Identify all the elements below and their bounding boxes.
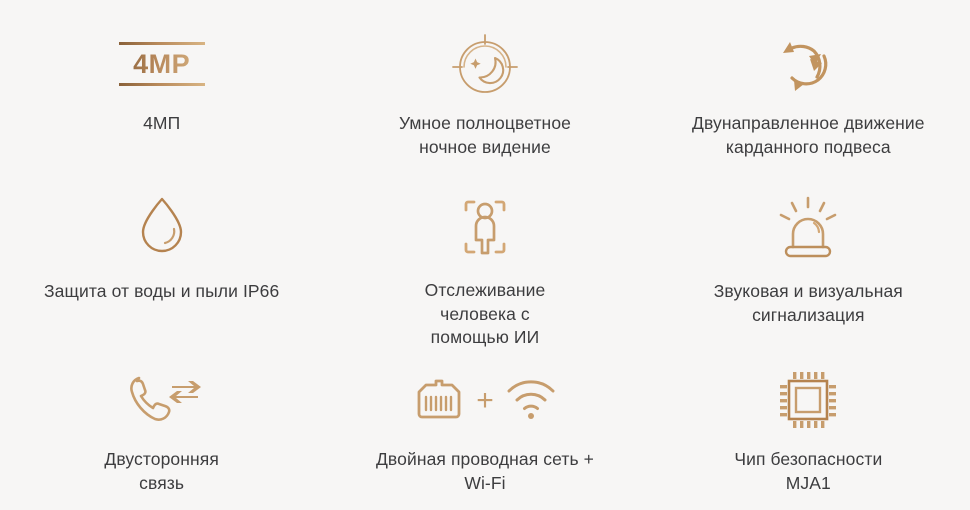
feature-label-ip66: Защита от воды и пыли IP66 [44, 280, 279, 304]
feature-label-security-chip: Чип безопасности MJA1 [734, 448, 882, 495]
water-droplet-icon [130, 186, 194, 270]
feature-label-network: Двойная проводная сеть + Wi-Fi [376, 448, 594, 495]
feature-label-night-vision: Умное полноцветное ночное видение [399, 112, 571, 159]
feature-cell-gimbal: Двунаправленное движение карданного подв… [647, 0, 970, 170]
microchip-icon [774, 362, 842, 438]
4mp-badge-icon: 4MP [119, 26, 205, 102]
feature-label-ai-tracking: Отслеживание человека с помощью ИИ [425, 279, 546, 350]
phone-handset-exchange-icon [119, 362, 205, 438]
badge-rule-bottom [119, 83, 205, 86]
plus-icon: + [476, 386, 494, 416]
feature-label-gimbal: Двунаправленное движение карданного подв… [692, 112, 925, 159]
feature-label-two-way-audio: Двусторонняя связь [104, 448, 219, 495]
feature-cell-alarm: Звуковая и визуальная сигнализация [647, 170, 970, 350]
feature-cell-ai-tracking: Отслеживание человека с помощью ИИ [323, 170, 646, 350]
feature-cell-ip66: Защита от воды и пыли IP66 [0, 170, 323, 350]
moon-star-lens-icon [446, 26, 524, 102]
feature-cell-security-chip: Чип безопасности MJA1 [647, 350, 970, 510]
feature-cell-resolution: 4MP 4МП [0, 0, 323, 170]
feature-cell-network: + Двойная проводная сеть + Wi-Fi [323, 350, 646, 510]
person-focus-frame-icon [449, 186, 521, 269]
feature-label-alarm: Звуковая и визуальная сигнализация [714, 280, 903, 327]
wifi-signal-icon [503, 372, 559, 429]
feature-cell-two-way-audio: Двусторонняя связь [0, 350, 323, 510]
feature-grid: 4MP 4МП Умное полноцветное ночное видени… [0, 0, 970, 510]
network-icon-group: + [411, 362, 559, 438]
feature-label-resolution: 4МП [143, 112, 180, 136]
badge-text: 4MP [119, 45, 205, 83]
ethernet-port-icon [411, 372, 467, 429]
siren-beacon-icon [770, 186, 846, 270]
bidirectional-rotation-arrows-icon [768, 26, 848, 102]
feature-cell-night-vision: Умное полноцветное ночное видение [323, 0, 646, 170]
